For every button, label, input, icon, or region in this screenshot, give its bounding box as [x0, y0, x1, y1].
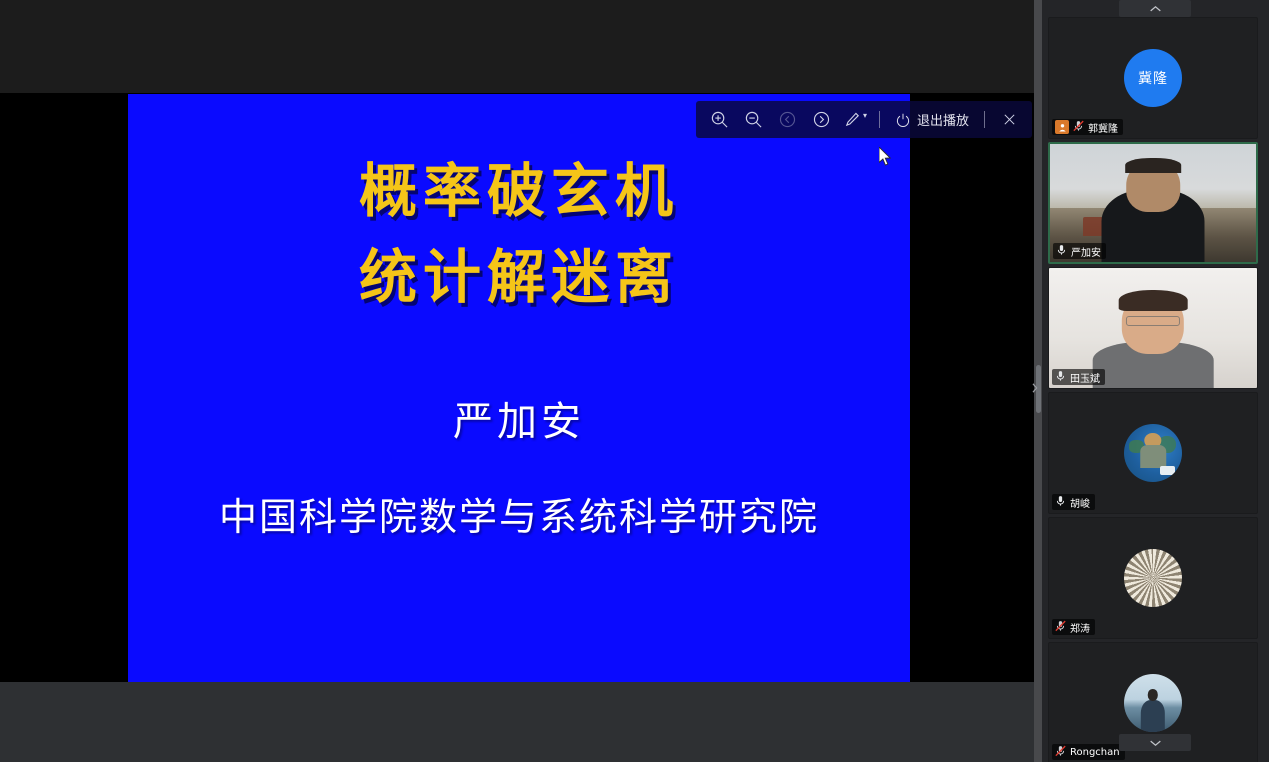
participant-name: 严加安 [1071, 244, 1101, 259]
mic-icon [1056, 244, 1067, 259]
slide-title-line-2: 统计解迷离 [128, 235, 910, 321]
mic-muted-icon [1073, 120, 1084, 135]
participant-tile[interactable]: 胡峻 [1048, 392, 1258, 514]
participant-tile[interactable]: 郑涛 [1048, 517, 1258, 639]
chevron-up-icon[interactable] [1119, 0, 1191, 17]
previous-slide-icon[interactable] [770, 103, 804, 137]
share-letterbox-right [910, 93, 1041, 682]
avatar [1124, 549, 1182, 607]
exit-presentation-button[interactable]: 退出播放 [887, 110, 977, 129]
mouse-cursor [879, 147, 893, 167]
avatar-initials: 冀隆 [1138, 68, 1168, 88]
participant-tile[interactable]: 严加安 [1048, 142, 1258, 264]
chevron-down-icon[interactable] [1119, 734, 1191, 751]
bottom-toolbar-strip: 说点什么… [0, 682, 1041, 762]
avatar [1124, 674, 1182, 732]
participant-badge: 田玉斌 [1052, 369, 1105, 385]
next-slide-icon[interactable] [804, 103, 838, 137]
participant-name: 胡峻 [1070, 495, 1090, 510]
avatar [1124, 424, 1182, 482]
participants-panel: 冀隆 郭冀隆 [1041, 0, 1269, 762]
participant-name: 田玉斌 [1070, 370, 1100, 385]
participant-tile[interactable]: 田玉斌 [1048, 267, 1258, 389]
share-letterbox-left [0, 93, 128, 682]
mic-muted-icon [1055, 620, 1066, 635]
participant-name: 郭冀隆 [1088, 120, 1118, 135]
slide-organization: 中国科学院数学与系统科学研究院 [128, 486, 910, 541]
close-icon[interactable] [992, 103, 1026, 137]
mic-icon [1055, 370, 1066, 385]
participant-badge: 严加安 [1053, 243, 1106, 259]
presentation-slide[interactable]: 概率破玄机 统计解迷离 严加安 中国科学院数学与系统科学研究院 [128, 94, 910, 682]
slide-title-line-1: 概率破玄机 [128, 149, 910, 235]
annotate-pen-icon[interactable]: ▾ [838, 103, 872, 137]
zoom-out-icon[interactable] [736, 103, 770, 137]
participant-name: Rongchan [1070, 747, 1120, 758]
participant-tile[interactable]: 冀隆 郭冀隆 [1048, 17, 1258, 139]
participant-name: 郑涛 [1070, 620, 1090, 635]
toolbar-divider-2 [984, 111, 985, 128]
participant-badge: 郑涛 [1052, 619, 1095, 635]
participant-badge: 胡峻 [1052, 494, 1095, 510]
annotate-caret-icon[interactable]: ▾ [863, 111, 867, 120]
share-letterbox-top [0, 0, 1041, 93]
participant-tiles: 冀隆 郭冀隆 [1048, 17, 1262, 762]
slide-title: 概率破玄机 统计解迷离 [128, 149, 910, 321]
mic-muted-icon [1055, 745, 1066, 760]
host-icon [1055, 120, 1069, 134]
zoom-in-icon[interactable] [702, 103, 736, 137]
participant-badge: 郭冀隆 [1052, 119, 1123, 135]
avatar: 冀隆 [1124, 49, 1182, 107]
slide-author: 严加安 [128, 389, 910, 447]
power-icon [895, 112, 911, 128]
exit-presentation-label: 退出播放 [917, 110, 969, 129]
shared-screen-region: 概率破玄机 统计解迷离 严加安 中国科学院数学与系统科学研究院 [0, 0, 1041, 682]
chevron-right-icon[interactable] [1028, 379, 1040, 397]
mic-icon [1055, 495, 1066, 510]
presentation-toolbar: ▾ 退出播放 [696, 101, 1032, 138]
meeting-window: 概率破玄机 统计解迷离 严加安 中国科学院数学与系统科学研究院 [0, 0, 1269, 762]
toolbar-divider-1 [879, 111, 880, 128]
participant-badge: Rongchan [1052, 744, 1125, 760]
